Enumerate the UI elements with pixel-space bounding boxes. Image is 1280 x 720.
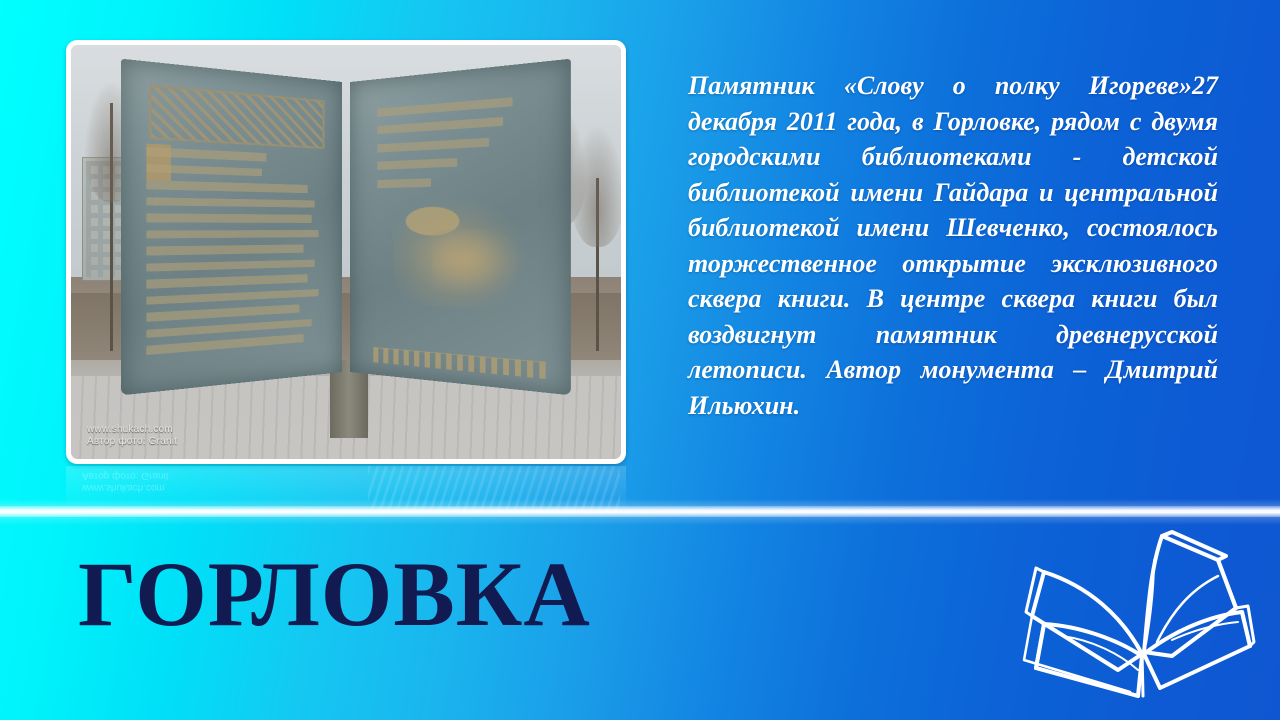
photo-book-sculpture — [143, 82, 550, 372]
photo-frame: www.shukach.com Автор фото: Granit — [66, 40, 626, 464]
page-title: ГОРЛОВКА — [78, 548, 591, 640]
photo-tree — [110, 103, 113, 351]
monument-photo: www.shukach.com Автор фото: Granit — [71, 45, 621, 459]
photo-book-right-page — [350, 59, 571, 396]
reflection-watermark-site: www.shukach.com — [82, 481, 169, 493]
photo-ornament-band — [148, 85, 324, 149]
photo-horseman-relief — [393, 194, 531, 312]
reflection-watermark-author: Автор фото: Granit — [82, 469, 169, 481]
description-paragraph: Памятник «Слову о полку Игореве»27 декаб… — [688, 68, 1218, 459]
photo-watermark: www.shukach.com Автор фото: Granit — [87, 424, 177, 448]
watermark-author: Автор фото: Granit — [87, 436, 177, 448]
watermark-site: www.shukach.com — [87, 424, 177, 436]
open-book-logo — [1022, 520, 1260, 710]
photo-bottom-band — [373, 347, 546, 380]
horizontal-divider — [0, 506, 1280, 517]
photo-tree — [596, 178, 599, 352]
slide-canvas: www.shukach.com Автор фото: Granit www.s… — [0, 0, 1280, 720]
photo-book-left-page — [120, 59, 341, 396]
reflection-watermark: www.shukach.com Автор фото: Granit — [82, 469, 169, 493]
